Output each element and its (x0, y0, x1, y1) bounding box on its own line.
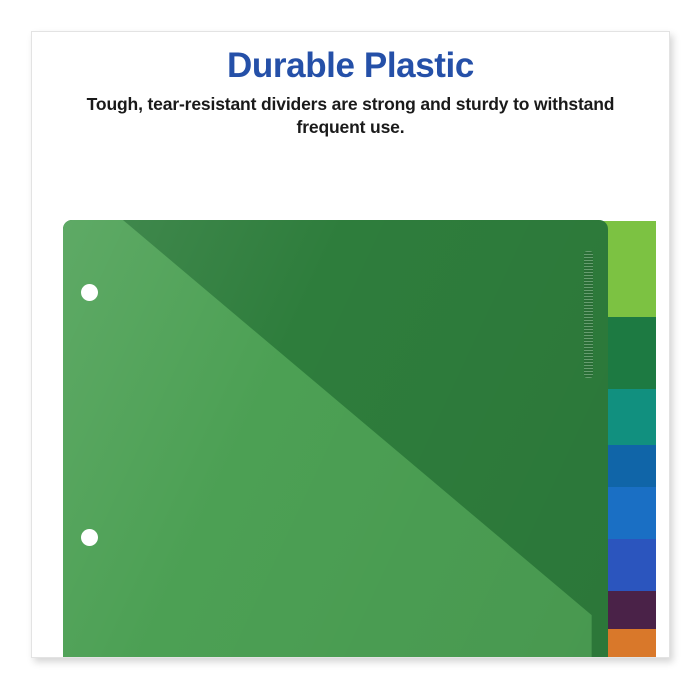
punch-hole-bottom (81, 529, 98, 546)
page-title: Durable Plastic (32, 48, 669, 85)
subtitle: Tough, tear-resistant dividers are stron… (32, 93, 669, 140)
product-marketing-image: Durable Plastic Tough, tear-resistant di… (0, 0, 700, 700)
subtitle-line-2: to withstand frequent use. (297, 94, 615, 137)
product-card: Durable Plastic Tough, tear-resistant di… (31, 31, 670, 658)
punch-hole-top (81, 284, 98, 301)
subtitle-line-1: Tough, tear-resistant dividers are stron… (87, 94, 509, 114)
reinforced-edge-ribbing (584, 251, 593, 378)
divider-product-illustration (63, 189, 663, 658)
marketing-text-block: Durable Plastic Tough, tear-resistant di… (32, 48, 669, 139)
